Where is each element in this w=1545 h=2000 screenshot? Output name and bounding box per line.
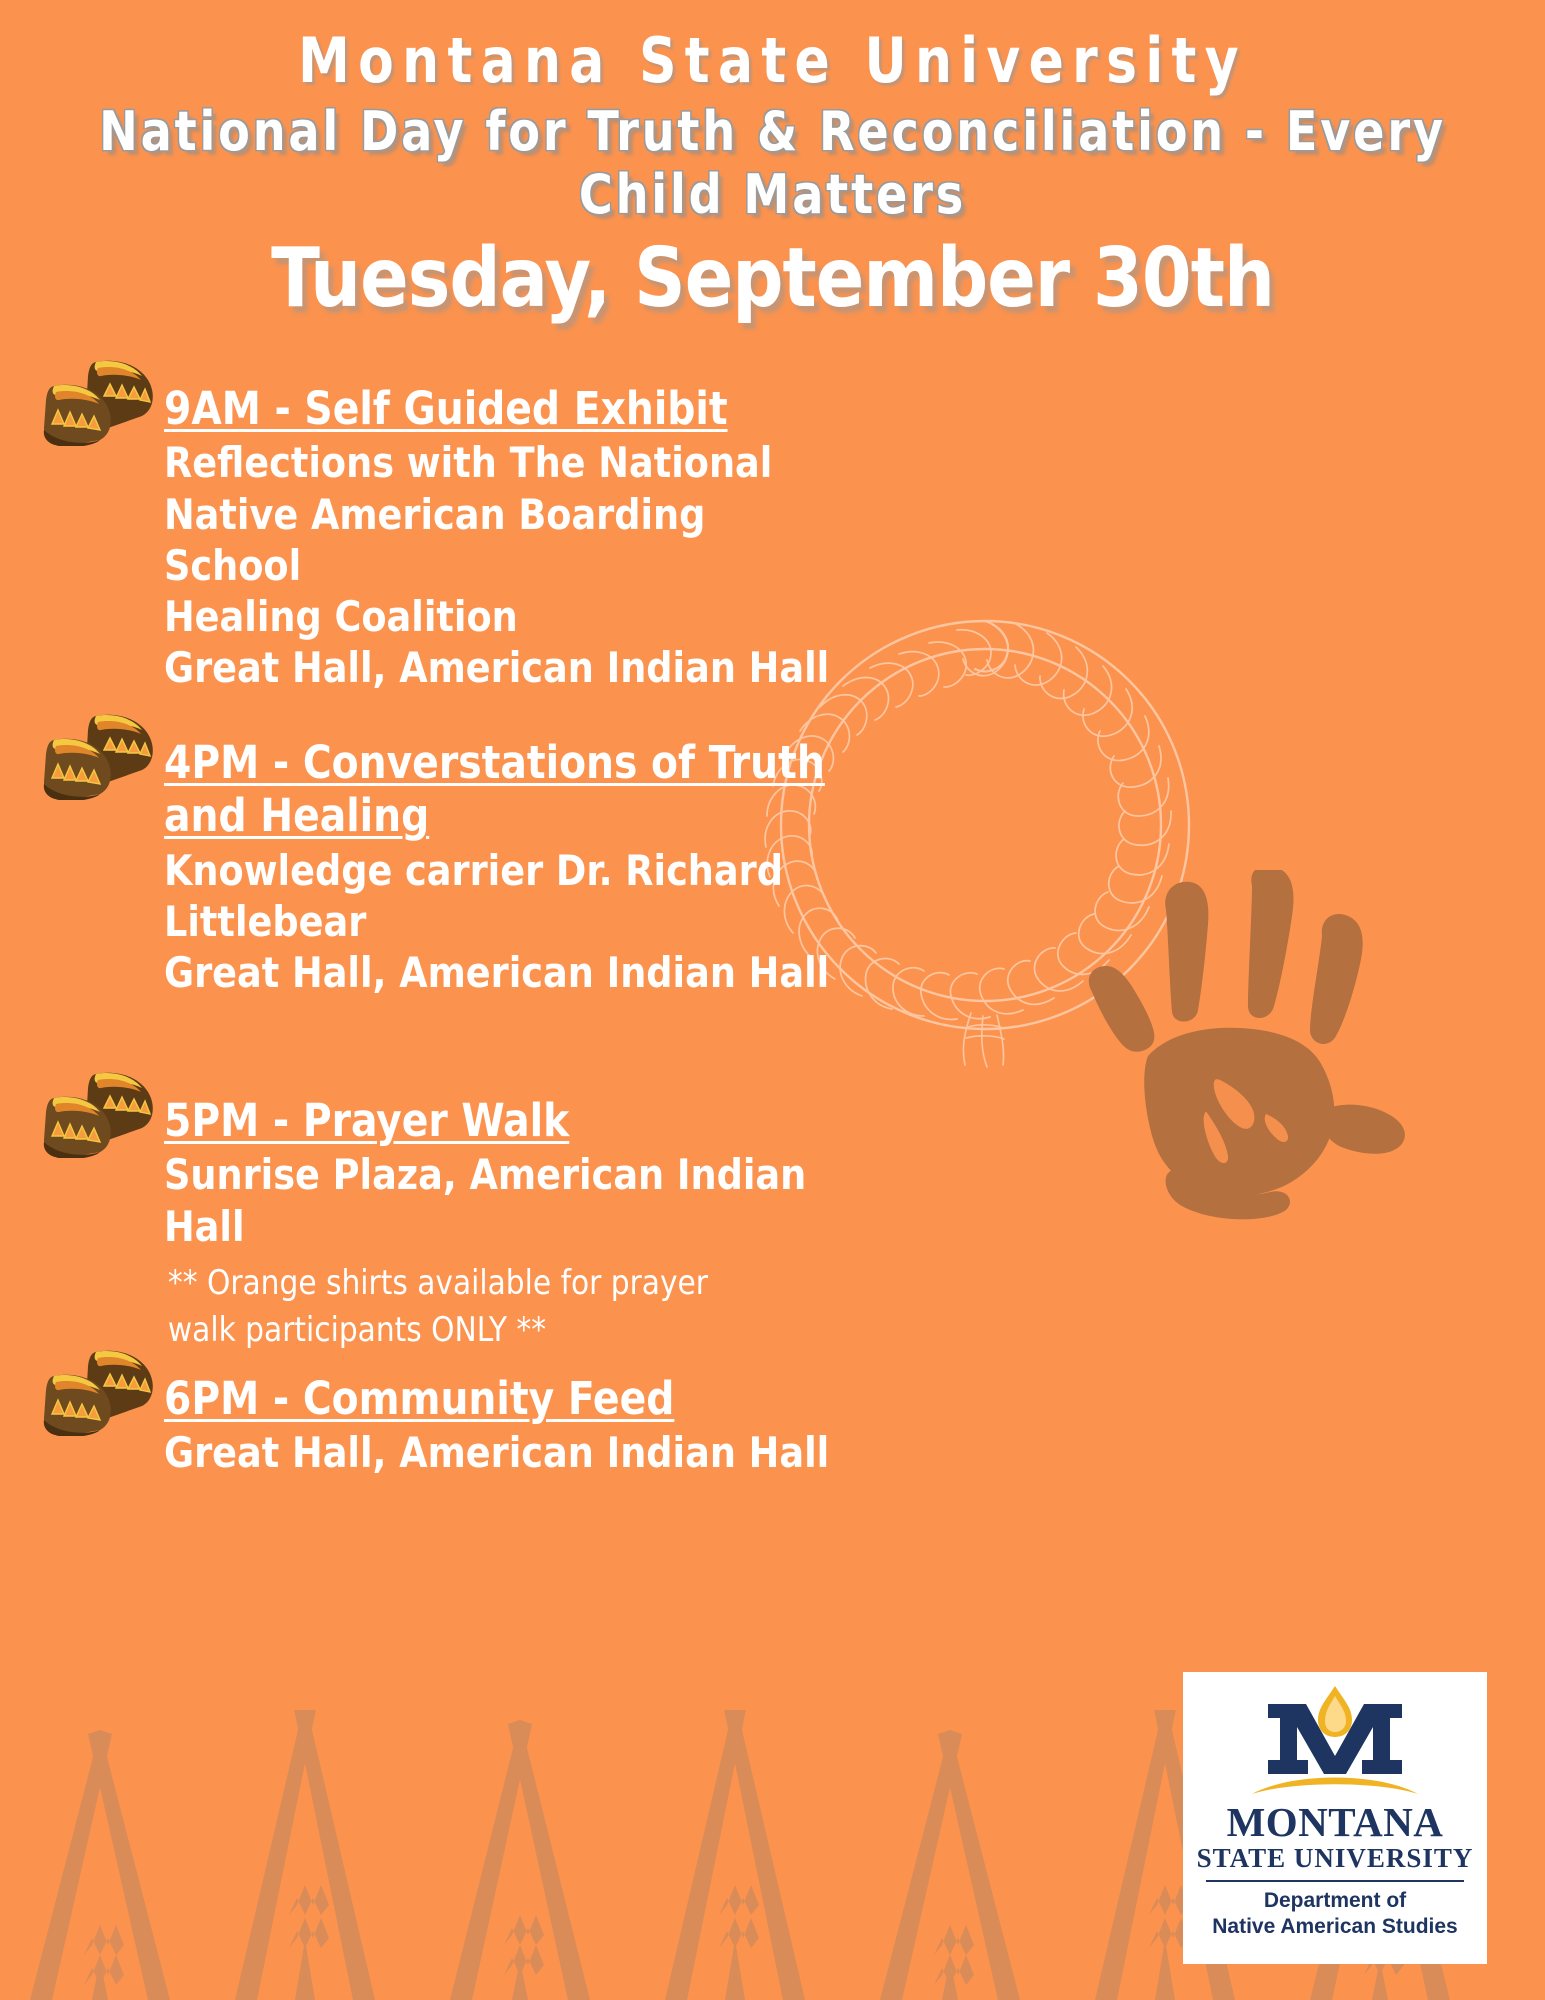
schedule-item-text: 9AM - Self Guided Exhibit Reflections wi… xyxy=(164,354,868,693)
organization-title: Montana State University xyxy=(54,26,1491,95)
schedule-item-text: 5PM - Prayer Walk Sunrise Plaza, America… xyxy=(164,1066,826,1353)
schedule-item: 4PM - Converstations of Truth and Healin… xyxy=(38,708,868,998)
schedule-item-body: Knowledge carrier Dr. Richard Littlebear… xyxy=(164,845,829,999)
moccasins-icon xyxy=(38,708,156,800)
msu-m-flame-logo-icon xyxy=(1240,1682,1430,1800)
schedule-item-text: 6PM - Community Feed Great Hall, America… xyxy=(164,1344,850,1478)
event-title: National Day for Truth & Reconciliation … xyxy=(39,101,1507,226)
poster-header: Montana State University National Day fo… xyxy=(0,0,1545,320)
schedule-item-title: 4PM - Converstations of Truth and Healin… xyxy=(164,736,829,842)
orange-handprint-icon xyxy=(1070,870,1420,1220)
moccasins-icon xyxy=(38,1344,156,1436)
schedule-item-title: 6PM - Community Feed xyxy=(164,1372,829,1425)
schedule-item-title: 5PM - Prayer Walk xyxy=(164,1094,806,1147)
schedule-item-text: 4PM - Converstations of Truth and Healin… xyxy=(164,708,850,998)
moccasins-icon xyxy=(38,1066,156,1158)
schedule-item: 5PM - Prayer Walk Sunrise Plaza, America… xyxy=(38,1066,868,1353)
schedule-item: 6PM - Community Feed Great Hall, America… xyxy=(38,1344,868,1478)
logo-wordmark-montana: MONTANA xyxy=(1227,1802,1444,1843)
schedule-item: 9AM - Self Guided Exhibit Reflections wi… xyxy=(38,354,868,693)
schedule-item-note: ** Orange shirts available for prayer wa… xyxy=(164,1260,806,1354)
schedule-item-body: Great Hall, American Indian Hall xyxy=(164,1427,829,1478)
schedule-item-body: Reflections with The National Native Ame… xyxy=(164,437,847,693)
logo-divider xyxy=(1206,1880,1464,1882)
schedule-item-body: Sunrise Plaza, American Indian Hall xyxy=(164,1149,806,1251)
moccasins-icon xyxy=(38,354,156,446)
msu-logo-card: MONTANA STATE UNIVERSITY Department of N… xyxy=(1183,1672,1487,1964)
event-date: Tuesday, September 30th xyxy=(23,237,1522,321)
schedule-item-title: 9AM - Self Guided Exhibit xyxy=(164,382,847,435)
logo-wordmark-state-university: STATE UNIVERSITY xyxy=(1197,1844,1474,1874)
logo-department-name: Department of Native American Studies xyxy=(1212,1888,1457,1941)
